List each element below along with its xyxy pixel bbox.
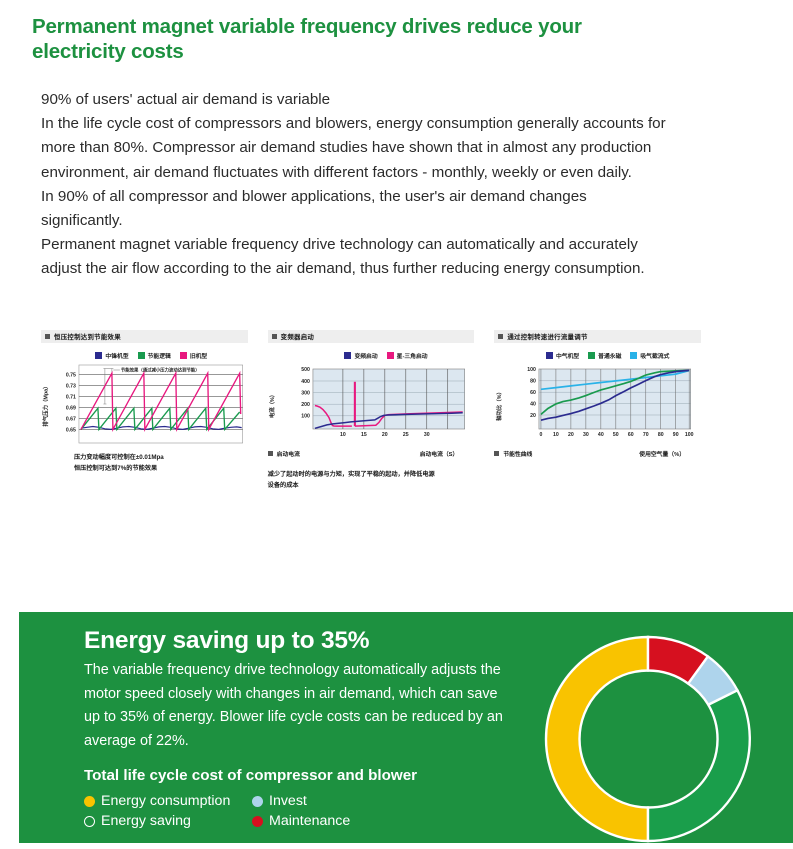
square-bullet-icon bbox=[45, 334, 50, 339]
y-tick-label: 0.73 bbox=[66, 383, 76, 389]
chart-2-caption-line-2: 设备的成本 bbox=[268, 481, 475, 492]
chart-2-header: 变频器启动 bbox=[268, 330, 475, 343]
legend-label: 吸气截流式 bbox=[640, 351, 669, 360]
body-paragraph-1: 90% of users' actual air demand is varia… bbox=[41, 88, 666, 112]
x-tick-label: 20 bbox=[382, 432, 388, 438]
legend-item: 中气机型 bbox=[546, 351, 579, 360]
body-paragraph-3: In 90% of all compressor and blower appl… bbox=[41, 185, 666, 233]
y-tick-label: 500 bbox=[301, 367, 310, 373]
chart-3-y-axis-label: 轴功比（%） bbox=[494, 364, 503, 446]
chart-2-caption: 减少了起动时的电源与力矩，实现了平稳的起动，并降低电源 设备的成本 bbox=[268, 470, 475, 491]
lifecycle-cost-donut-chart bbox=[538, 629, 758, 849]
y-tick-label: 400 bbox=[301, 379, 310, 385]
legend-dot-yellow-icon bbox=[84, 796, 95, 807]
x-tick-label: 30 bbox=[424, 432, 430, 438]
legend-label: Maintenance bbox=[269, 813, 350, 829]
donut-slice-energy-consumption bbox=[546, 637, 648, 841]
lifecycle-cost-subtitle: Total life cycle cost of compressor and … bbox=[84, 767, 514, 784]
x-tick-label: 50 bbox=[613, 432, 619, 438]
y-tick-label: 0.71 bbox=[66, 394, 76, 400]
legend-label: 节能逻辑 bbox=[148, 351, 171, 360]
x-tick-label: 60 bbox=[628, 432, 634, 438]
legend-color-chip bbox=[95, 352, 102, 359]
energy-saving-panel: Energy saving up to 35% The variable fre… bbox=[19, 612, 793, 843]
legend-dot-lightblue-icon bbox=[252, 796, 263, 807]
chart-1-legend: 中锋机型 节能逻辑 旧机型 bbox=[41, 351, 248, 360]
chart-card-speed-flow-control: 通过控制转速进行流量调节 中气机型 普通永磁 吸气截流式 轴功比（%） bbox=[494, 330, 701, 495]
charts-strip: 恒压控制达到节能效果 中锋机型 节能逻辑 旧机型 排气压力（Mpa） bbox=[41, 330, 701, 495]
x-tick-label: 30 bbox=[583, 432, 589, 438]
chart-card-constant-pressure: 恒压控制达到节能效果 中锋机型 节能逻辑 旧机型 排气压力（Mpa） bbox=[41, 330, 248, 495]
legend-item: 吸气截流式 bbox=[630, 351, 669, 360]
chart-3-plot-area: 轴功比（%） 100 80 60 40 20 bbox=[494, 364, 701, 446]
x-tick-label: 15 bbox=[361, 432, 367, 438]
chart-1-caption-line-1: 压力变动幅度可控制在±0.01Mpa bbox=[74, 453, 248, 464]
y-tick-label: 300 bbox=[301, 390, 310, 396]
chart-1-y-axis-label: 排气压力（Mpa） bbox=[41, 364, 50, 446]
legend-color-chip bbox=[588, 352, 595, 359]
legend-item: 旧机型 bbox=[180, 351, 207, 360]
x-tick-label: 10 bbox=[340, 432, 346, 438]
x-tick-label: 10 bbox=[553, 432, 559, 438]
chart-1-header: 恒压控制达到节能效果 bbox=[41, 330, 248, 343]
chart-1-svg: 0.75 0.73 0.71 0.69 0.67 0.65 bbox=[50, 364, 248, 446]
chart-2-caption-line-1: 减少了起动时的电源与力矩，实现了平稳的起动，并降低电源 bbox=[268, 470, 475, 481]
legend-color-chip bbox=[546, 352, 553, 359]
chart-2-title: 变频器启动 bbox=[281, 332, 314, 341]
legend-label: Invest bbox=[269, 793, 307, 809]
chart-1-caption-line-2: 恒压控制可达到7%的节能效果 bbox=[74, 464, 248, 475]
legend-item-invest[interactable]: Invest bbox=[252, 793, 514, 809]
legend-label: 星-三角启动 bbox=[397, 351, 428, 360]
chart-3-legend: 中气机型 普通永磁 吸气截流式 bbox=[494, 351, 701, 360]
legend-color-chip bbox=[344, 352, 351, 359]
legend-color-chip bbox=[180, 352, 187, 359]
chart-3-footer: 节能性曲线 使用空气量（%） bbox=[494, 449, 701, 458]
chart-2-x-axis-label: 启动电流（S） bbox=[420, 449, 459, 458]
legend-color-chip bbox=[630, 352, 637, 359]
chart-2-plot-area: 电流（%） 500 400 300 200 100 bbox=[268, 364, 475, 446]
x-tick-label: 90 bbox=[673, 432, 679, 438]
legend-dot-hollow-icon bbox=[84, 816, 95, 827]
legend-label: 中气机型 bbox=[556, 351, 579, 360]
y-tick-label: 80 bbox=[531, 379, 537, 385]
chart-1-caption: 压力变动幅度可控制在±0.01Mpa 恒压控制可达到7%的节能效果 bbox=[41, 453, 248, 474]
donut-slice-energy-saving bbox=[648, 690, 750, 841]
square-bullet-icon bbox=[494, 451, 499, 456]
y-tick-label: 20 bbox=[531, 413, 537, 419]
legend-label: Energy saving bbox=[101, 813, 191, 829]
x-tick-label: 70 bbox=[643, 432, 649, 438]
legend-item: 星-三角启动 bbox=[387, 351, 428, 360]
chart-3-x-axis-label: 使用空气量（%） bbox=[639, 449, 685, 458]
legend-label: 中锋机型 bbox=[105, 351, 128, 360]
y-tick-label: 0.75 bbox=[66, 372, 76, 378]
x-tick-label: 80 bbox=[658, 432, 664, 438]
body-paragraph-2: In the life cycle cost of compressors an… bbox=[41, 112, 666, 185]
chart-2-foot-label: 启动电流 bbox=[277, 449, 300, 458]
y-tick-label: 200 bbox=[301, 402, 310, 408]
legend-label: 普通永磁 bbox=[598, 351, 621, 360]
y-tick-label: 0.67 bbox=[66, 416, 76, 422]
x-tick-label: 20 bbox=[568, 432, 574, 438]
legend-color-chip bbox=[387, 352, 394, 359]
legend-item-maintenance[interactable]: Maintenance bbox=[252, 813, 514, 829]
legend-item: 节能逻辑 bbox=[138, 351, 171, 360]
y-tick-label: 0.69 bbox=[66, 405, 76, 411]
donut-legend: Energy consumption Invest Energy saving … bbox=[84, 793, 514, 829]
y-tick-label: 100 bbox=[301, 414, 310, 420]
chart-1-annotation: 节能效果（通过减小压力波动达到节能） bbox=[121, 367, 200, 374]
legend-item: 中锋机型 bbox=[95, 351, 128, 360]
y-tick-label: 100 bbox=[528, 367, 537, 373]
legend-item: 变频启动 bbox=[344, 351, 377, 360]
chart-3-foot-label: 节能性曲线 bbox=[503, 449, 532, 458]
legend-item-energy-consumption[interactable]: Energy consumption bbox=[84, 793, 252, 809]
square-bullet-icon bbox=[268, 451, 273, 456]
x-tick-label: 40 bbox=[598, 432, 604, 438]
chart-3-svg: 100 80 60 40 20 bbox=[503, 364, 701, 446]
x-tick-label: 25 bbox=[403, 432, 409, 438]
x-tick-label: 0 bbox=[540, 432, 543, 438]
energy-saving-title: Energy saving up to 35% bbox=[84, 625, 514, 656]
chart-2-legend: 变频启动 星-三角启动 bbox=[268, 351, 475, 360]
legend-item-energy-saving[interactable]: Energy saving bbox=[84, 813, 252, 829]
chart-1-title: 恒压控制达到节能效果 bbox=[54, 332, 121, 341]
chart-3-title: 通过控制转速进行流量调节 bbox=[507, 332, 587, 341]
chart-3-header: 通过控制转速进行流量调节 bbox=[494, 330, 701, 343]
square-bullet-icon bbox=[272, 334, 277, 339]
legend-color-chip bbox=[138, 352, 145, 359]
energy-saving-text-block: Energy saving up to 35% The variable fre… bbox=[84, 625, 514, 829]
legend-label: Energy consumption bbox=[101, 793, 230, 809]
page-title: Permanent magnet variable frequency driv… bbox=[32, 14, 652, 64]
energy-saving-paragraph: The variable frequency drive technology … bbox=[84, 659, 514, 753]
chart-2-y-axis-label: 电流（%） bbox=[268, 364, 277, 446]
donut-svg bbox=[538, 629, 758, 849]
legend-item: 普通永磁 bbox=[588, 351, 621, 360]
intro-body-text: 90% of users' actual air demand is varia… bbox=[41, 88, 666, 282]
y-tick-label: 0.65 bbox=[66, 427, 76, 433]
chart-2-svg: 500 400 300 200 100 bbox=[277, 364, 475, 446]
y-tick-label: 60 bbox=[531, 390, 537, 396]
legend-label: 旧机型 bbox=[190, 351, 207, 360]
square-bullet-icon bbox=[498, 334, 503, 339]
chart-2-footer: 启动电流 启动电流（S） bbox=[268, 449, 475, 458]
x-tick-label: 100 bbox=[685, 432, 694, 438]
chart-card-inverter-startup: 变频器启动 变频启动 星-三角启动 电流（%） bbox=[268, 330, 475, 495]
y-tick-label: 40 bbox=[531, 401, 537, 407]
chart-1-plot-area: 排气压力（Mpa） 0.75 0.73 0.71 0.69 0.67 0.65 bbox=[41, 364, 248, 446]
body-paragraph-4: Permanent magnet variable frequency driv… bbox=[41, 233, 666, 281]
legend-dot-red-icon bbox=[252, 816, 263, 827]
legend-label: 变频启动 bbox=[354, 351, 377, 360]
